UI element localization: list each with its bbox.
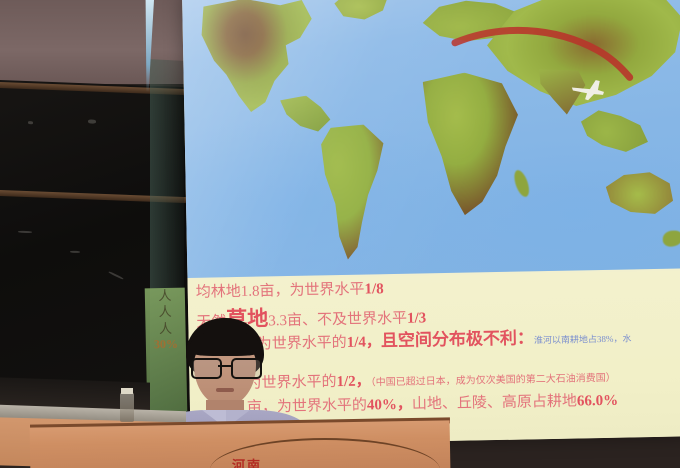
line-arable-value2: 66.0% xyxy=(577,393,619,410)
line-forest-body: 林地1.8亩，为世界水平 xyxy=(211,282,365,301)
line-oil-note: （中国已超过日本，成为仅次美国的第二大石油消费国） xyxy=(371,373,616,389)
world-map-image xyxy=(182,0,680,278)
spill-char-1: 人 xyxy=(145,288,185,305)
glasses-icon xyxy=(190,358,260,376)
slide-line-forest: 均林地1.8亩，为世界水平1/8 xyxy=(196,282,384,301)
water-bottle xyxy=(120,392,134,422)
chalk-mark xyxy=(88,119,96,123)
line-grassland-value: 1/3 xyxy=(407,310,426,326)
line-water-value: 1/4， xyxy=(347,334,381,351)
glasses-lens-right xyxy=(231,358,262,379)
chalk-mark xyxy=(70,251,80,253)
chalk-mark xyxy=(28,121,33,124)
podium-banner-text: 河南 xyxy=(232,455,262,468)
line-arable-value: 40%， xyxy=(367,397,412,414)
line-water-note: 淮河以南耕地占38%，水 xyxy=(534,333,632,345)
line-water-colon: ： xyxy=(517,328,534,347)
water-bottle-cap xyxy=(121,388,133,394)
mouth xyxy=(216,388,234,392)
glasses-lens-left xyxy=(191,358,222,379)
projector-glare xyxy=(182,0,680,278)
line-forest-prefix: 均 xyxy=(196,285,211,301)
line-water-emphasis: 且空间分布极不利 xyxy=(381,329,517,351)
line-arable-note: 山地、丘陵、高原占耕地 xyxy=(412,393,577,412)
chalk-mark xyxy=(108,271,123,280)
lecture-photo-scene: 均林地1.8亩，为世界水平1/8 天然草地3.3亩、不及世界水平1/3 资源为世… xyxy=(0,0,680,468)
chalk-mark xyxy=(18,231,32,234)
line-oil-value: 1/2， xyxy=(336,373,370,390)
glasses-bridge xyxy=(218,365,231,367)
line-forest-value: 1/8 xyxy=(364,281,383,297)
